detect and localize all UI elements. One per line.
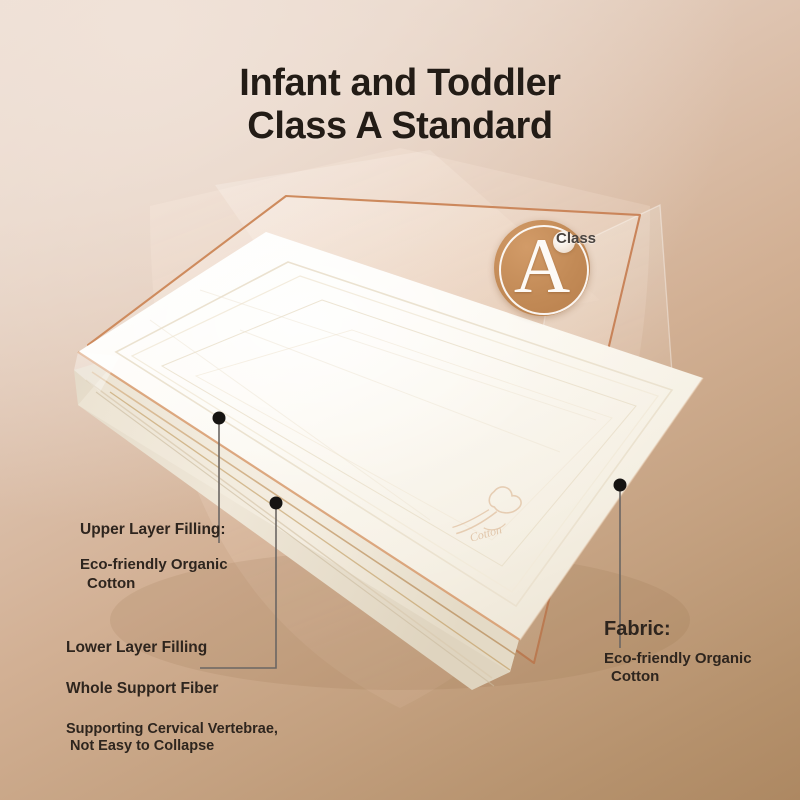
callout-lower-detail-line3: Not Easy to Collapse bbox=[66, 738, 278, 756]
callout-lower-detail-rest: Supporting Cervical Vertebrae, Not Easy … bbox=[66, 721, 278, 756]
callout-fabric: Fabric: Eco-friendly Organic Cotton bbox=[604, 617, 752, 687]
callout-dots bbox=[213, 412, 627, 510]
callout-upper-detail: Eco-friendly Organic Cotton bbox=[80, 556, 228, 593]
callout-lower-detail-line2: Supporting Cervical Vertebrae, bbox=[66, 721, 278, 737]
callout-lower-detail-line1: Whole Support Fiber bbox=[66, 679, 278, 698]
callout-fabric-headline: Fabric: bbox=[604, 617, 752, 642]
callout-upper-detail-line1: Eco-friendly Organic bbox=[80, 556, 228, 573]
callout-upper-detail-line2: Cotton bbox=[80, 575, 228, 593]
product-poster: Cotton Infant and Toddler Class A Standa… bbox=[0, 0, 800, 800]
callout-fabric-detail-line1: Eco-friendly Organic bbox=[604, 650, 752, 667]
callout-lower-layer-filling: Lower Layer Filling Whole Support Fiber … bbox=[66, 638, 278, 756]
callout-fabric-detail: Eco-friendly Organic Cotton bbox=[604, 650, 752, 687]
callout-upper-headline: Upper Layer Filling: bbox=[80, 520, 228, 539]
callout-upper-layer-filling: Upper Layer Filling: Eco-friendly Organi… bbox=[80, 520, 228, 593]
callout-fabric-detail-line2: Cotton bbox=[604, 668, 752, 686]
callout-lower-headline: Lower Layer Filling bbox=[66, 638, 278, 657]
